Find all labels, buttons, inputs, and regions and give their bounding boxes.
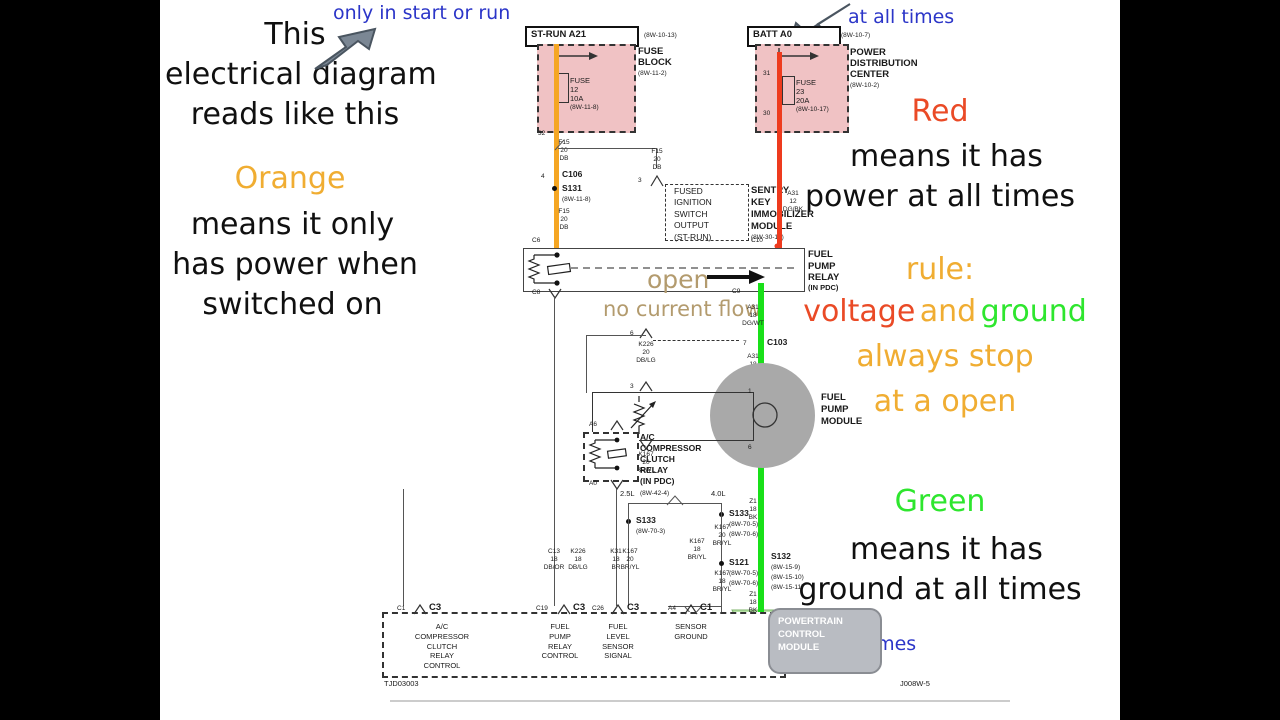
- fuse-block-name-2: BLOCK: [638, 58, 672, 69]
- ac-relay-pin-a6: A6: [589, 421, 597, 428]
- diagram-canvas: This electrical diagram reads like this …: [160, 0, 1120, 720]
- orange-wire-color-u: DB: [557, 155, 571, 163]
- green-circuit-u: A31: [740, 304, 766, 312]
- no-current-flow-label: no current flow: [603, 297, 762, 321]
- ac-relay-name: A/C COMPRESSOR CLUTCH RELAY (IN PDC): [640, 432, 701, 487]
- relay-pin-c10: C10: [751, 237, 763, 244]
- pcm-pin-0-num: C1: [397, 605, 405, 612]
- screenshot-stage: This electrical diagram reads like this …: [0, 0, 1280, 720]
- bottom-wire-1-circuit: K31: [602, 548, 630, 556]
- orange-wire-gauge-l: 20: [557, 216, 571, 224]
- orange-wire-label-lower: F15 20 DB: [557, 208, 571, 232]
- pcm-label-3-l2: GROUND: [658, 632, 724, 642]
- red-wire: [777, 52, 782, 250]
- relay-pin-c8: C8: [532, 289, 540, 296]
- s132-ref-3: (8W-15-11): [771, 584, 803, 591]
- fuse-23-label-3: 20A: [796, 96, 809, 105]
- green-circuit-m: A31: [740, 353, 766, 361]
- ac-name-l3: CLUTCH: [640, 454, 701, 465]
- s133-left-ref: (8W-70-3): [636, 528, 665, 535]
- pdc-pin-30: 30: [763, 110, 770, 117]
- footer-left: TJD03003: [384, 679, 419, 688]
- ac-name-l1: A/C: [640, 432, 701, 443]
- pcm-label-2-l4: SIGNAL: [588, 651, 648, 661]
- s132-ref-2: (8W-15-10): [771, 574, 804, 581]
- green-color-u: DG/WT: [740, 320, 766, 328]
- callout-all-times-top: at all times: [848, 6, 954, 28]
- skim-dash-l4: OUTPUT: [674, 220, 712, 231]
- fuse-23-ref: (8W-10-17): [796, 106, 829, 113]
- fuse-12-ref: (8W-11-8): [570, 104, 599, 111]
- red-line-2: power at all times: [800, 180, 1080, 215]
- skim-connector-symbol: [650, 175, 664, 187]
- pdc-name-3: CENTER: [850, 70, 889, 81]
- fuel-pump-relay-name: FUEL PUMP RELAY: [808, 249, 839, 284]
- orange-line-3: switched on: [175, 288, 410, 323]
- green-circuit-b: Z1: [740, 591, 766, 599]
- rule-and: and: [920, 294, 976, 329]
- ac-name-l5: (IN PDC): [640, 476, 701, 487]
- c106-pin: 4: [541, 173, 545, 180]
- pcm-label-2-l3: SENSOR: [588, 642, 648, 652]
- k226-top-wire: [586, 335, 646, 336]
- rule-title: rule:: [860, 253, 1020, 288]
- pcm-connector-2: [611, 604, 625, 615]
- k167-d-gauge: 18: [683, 546, 711, 554]
- bottom-wire-1-gauge: 18: [602, 556, 630, 564]
- k167-b-circuit: K167: [708, 524, 736, 532]
- fuse-23-label-2: 23: [796, 87, 804, 96]
- bottom-wire-1: K31 18 BR: [602, 548, 630, 572]
- fpm-name-l2: PUMP: [821, 404, 862, 416]
- fuse-block-pin-32: 32: [538, 130, 545, 137]
- bottom-wire-2: K226 18 DB/LG: [564, 548, 592, 572]
- pcm-name-l1: POWERTRAIN: [778, 616, 843, 629]
- skim-branch-bend: [554, 138, 568, 152]
- fpr-name-l3: RELAY: [808, 272, 839, 284]
- k226-dash-frame: [586, 335, 652, 393]
- skim-wire-circuit: F15: [649, 148, 665, 156]
- orange-line-2: has power when: [165, 248, 425, 283]
- skim-wire-gauge: 20: [649, 156, 665, 164]
- s131-ref: (8W-11-8): [562, 196, 591, 203]
- skim-wire-label: F15 20 DB: [649, 148, 665, 172]
- pcm-label-3: SENSOR GROUND: [658, 622, 724, 642]
- st-run-tag-ref: (8W-10-13): [644, 32, 677, 39]
- pcm-label-3-l1: SENSOR: [658, 622, 724, 632]
- k226-dash-to-c103: [653, 340, 739, 341]
- pcm-connector-1: [557, 604, 571, 615]
- bottom-wire-1-color: BR: [602, 564, 630, 572]
- pcm-label-0-l5: CONTROL: [388, 661, 496, 671]
- skim-dash-l5: (ST-RUN): [674, 232, 712, 243]
- engine-split-peak: [665, 494, 685, 506]
- fuse-12-label-2: 12: [570, 85, 578, 94]
- fpm-name-l3: MODULE: [821, 416, 862, 428]
- pcm-conn-1: C3: [573, 603, 585, 614]
- skim-pin: 3: [638, 177, 642, 184]
- c103-pin: 7: [743, 340, 747, 347]
- red-wire-circuit: A31: [780, 190, 806, 198]
- pcm-label-1-l2: PUMP: [530, 632, 590, 642]
- red-wire-color: DG/BK: [780, 206, 806, 214]
- pcm-label-1-l1: FUEL: [530, 622, 590, 632]
- fuel-pump-module-name: FUEL PUMP MODULE: [821, 392, 862, 428]
- engine-40l-label: 4.0L: [711, 489, 726, 498]
- k167-c-circuit: K167: [708, 570, 736, 578]
- k167-c-color: BR/YL: [708, 586, 736, 594]
- pcm-label-1: FUEL PUMP RELAY CONTROL: [530, 622, 590, 661]
- batt-tag-ref: (8W-10-7): [841, 32, 870, 39]
- open-label: open: [647, 265, 709, 294]
- pcm-conn-2: C3: [627, 603, 639, 614]
- intro-line-3: reads like this: [170, 98, 420, 133]
- engine-split-right: [721, 503, 722, 512]
- c103-connector: C103: [767, 338, 787, 348]
- pcm-label-2: FUEL LEVEL SENSOR SIGNAL: [588, 622, 648, 661]
- red-line-1: means it has: [850, 140, 1030, 175]
- rule-line-1: voltage and ground: [785, 295, 1105, 330]
- s131-splice-dot: [552, 186, 557, 191]
- ac-relay-pin-a0: A0: [589, 480, 597, 487]
- pcm-label-1-l4: CONTROL: [530, 651, 590, 661]
- green-line-2: ground at all times: [780, 573, 1100, 608]
- fuse-23-label-1: FUSE: [796, 78, 816, 87]
- skim-branch-horizontal: [558, 148, 656, 149]
- k167-c-gauge: 18: [708, 578, 736, 586]
- pcm-pin-3-num: A4: [668, 605, 676, 612]
- relay-pin-c6-top: C6: [532, 237, 540, 244]
- pcm-conn-3: C1: [700, 603, 712, 614]
- rule-line-2: always stop: [810, 340, 1080, 375]
- pcm-label-1-l3: RELAY: [530, 642, 590, 652]
- pcm-connector-0: [413, 604, 427, 615]
- c8-connector-symbol: [548, 288, 562, 299]
- st-run-tag-label: ST-RUN A21: [531, 30, 586, 41]
- orange-wire-circuit-l: F15: [557, 208, 571, 216]
- k167-d-label: K167 18 BR/YL: [683, 538, 711, 562]
- engine-split-left: [628, 503, 629, 512]
- red-wire-gauge: 12: [780, 198, 806, 206]
- green-label-upper: A31 18 DG/WT: [740, 304, 766, 328]
- red-wire-label: A31 12 DG/BK: [780, 190, 806, 214]
- green-gauge-u: 18: [740, 312, 766, 320]
- green-line-1: means it has: [850, 533, 1030, 568]
- s131-splice: S131: [562, 184, 582, 194]
- relay-out-pin-c9: C9: [732, 288, 740, 295]
- ac-relay-connector-top: [610, 420, 624, 431]
- pdc-feed-arrow: [777, 47, 822, 61]
- pcm-label-0-l2: COMPRESSOR: [388, 632, 496, 642]
- s121-label: S121: [729, 558, 749, 568]
- fpm-name-l1: FUEL: [821, 392, 862, 404]
- pcm-conn-0: C3: [429, 603, 441, 614]
- orange-wire-color-l: DB: [557, 224, 571, 232]
- arrow-to-st-run: [313, 17, 423, 72]
- skim-wire-color: DB: [649, 164, 665, 172]
- pcm-label-0-l4: RELAY: [388, 651, 496, 661]
- k226-left-wire: [586, 335, 587, 393]
- engine-25l-label: 2.5L: [620, 489, 635, 498]
- green-keyword: Green: [850, 485, 1030, 520]
- pcm-label-0: A/C COMPRESSOR CLUTCH RELAY CONTROL: [388, 622, 496, 671]
- bottom-wire-2-circuit: K226: [564, 548, 592, 556]
- k167-b-label: K167 20 BR/YL: [708, 524, 736, 548]
- pcm-connector-3: [684, 604, 698, 615]
- bottom-wire-2-color: DB/LG: [564, 564, 592, 572]
- fuel-pump-motor-symbol: [748, 398, 782, 432]
- s132-ref-1: (8W-15-9): [771, 564, 800, 571]
- k167-d-circuit: K167: [683, 538, 711, 546]
- k167-b-gauge: 20: [708, 532, 736, 540]
- fpr-name-l1: FUEL: [808, 249, 839, 261]
- ac-relay-internals: [585, 434, 633, 476]
- pdc-pin-31: 31: [763, 70, 770, 77]
- skim-dash-l2: IGNITION: [674, 197, 712, 208]
- c13-wire: [403, 489, 404, 606]
- s121-dot: [719, 561, 724, 566]
- rule-voltage: voltage: [803, 294, 915, 329]
- fuse-23-symbol: [782, 76, 795, 105]
- fpm-pin-6: 6: [748, 444, 752, 451]
- pcm-pin-2-num: C26: [592, 605, 604, 612]
- s133-right-label: S133: [729, 509, 749, 519]
- pcm-label-2-l2: LEVEL: [588, 632, 648, 642]
- fuse-12-label-1: FUSE: [570, 76, 590, 85]
- fpr-name-l2: PUMP: [808, 261, 839, 273]
- ac-name-l2: COMPRESSOR: [640, 443, 701, 454]
- pcm-label-2-l1: FUEL: [588, 622, 648, 632]
- red-keyword: Red: [860, 95, 1020, 130]
- pcm-name-l2: CONTROL: [778, 629, 843, 642]
- skim-dash-l1: FUSED: [674, 186, 712, 197]
- pcm-name-l3: MODULE: [778, 642, 843, 655]
- pcm-label-0-l1: A/C: [388, 622, 496, 632]
- orange-line-1: means it only: [175, 208, 410, 243]
- footer-rule: [390, 700, 1010, 702]
- pcm-label-0-l3: CLUTCH: [388, 642, 496, 652]
- skim-dash-text: FUSED IGNITION SWITCH OUTPUT (ST-RUN): [674, 186, 712, 243]
- bottom-wire-2-gauge: 18: [564, 556, 592, 564]
- s133-left-label: S133: [636, 516, 656, 526]
- ac-name-l4: RELAY: [640, 465, 701, 476]
- fuse-block-feed-arrow: [556, 47, 601, 61]
- fpr-name-l4: (IN PDC): [808, 283, 838, 292]
- s132-splice: S132: [771, 552, 791, 562]
- skim-name-l4: MODULE: [751, 221, 814, 233]
- footer-right: J008W-5: [900, 679, 930, 688]
- pdc-ref: (8W-10-2): [850, 82, 879, 89]
- fuse-block-ref: (8W-11-2): [638, 70, 667, 77]
- pcm-pin-1-num: C19: [536, 605, 548, 612]
- skim-dash-l3: SWITCH: [674, 209, 712, 220]
- batt-tag-label: BATT A0: [753, 30, 792, 41]
- k167-d-color: BR/YL: [683, 554, 711, 562]
- green-circuit-lo: Z1: [740, 498, 766, 506]
- fuse-12-label-3: 10A: [570, 94, 583, 103]
- k167-c-label: K167 18 BR/YL: [708, 570, 736, 594]
- green-gauge-b: 18: [740, 599, 766, 607]
- orange-keyword: Orange: [190, 162, 390, 197]
- rule-ground: ground: [981, 294, 1087, 329]
- pcm-name: POWERTRAIN CONTROL MODULE: [778, 616, 843, 654]
- fpm-pin-1: 1: [748, 388, 752, 395]
- c106-connector: C106: [562, 170, 582, 180]
- k167-b-color: BR/YL: [708, 540, 736, 548]
